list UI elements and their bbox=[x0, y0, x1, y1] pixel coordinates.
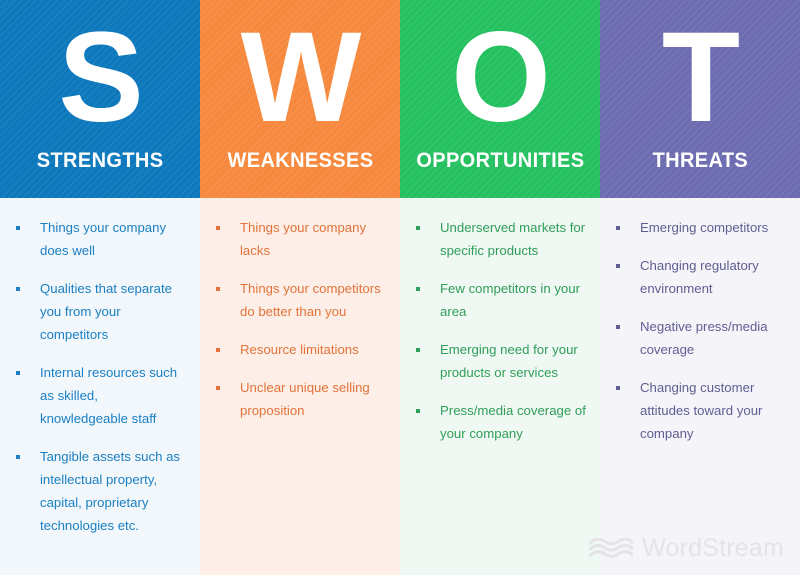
list-item-text: Negative press/media coverage bbox=[640, 315, 786, 361]
list-item-text: Internal resources such as skilled, know… bbox=[40, 361, 186, 430]
column-title-weaknesses: WEAKNESSES bbox=[227, 148, 373, 173]
list-item: Emerging competitors bbox=[610, 216, 786, 239]
list-item-text: Few competitors in your area bbox=[440, 277, 586, 323]
list-item: Negative press/media coverage bbox=[610, 315, 786, 361]
list-item: Resource limitations bbox=[210, 338, 386, 361]
list-item-text: Changing regulatory environment bbox=[640, 254, 786, 300]
list-item-text: Qualities that separate you from your co… bbox=[40, 277, 186, 346]
wave-icon bbox=[589, 538, 633, 560]
column-body-strengths: Things your company does well Qualities … bbox=[0, 198, 200, 575]
swot-matrix: S STRENGTHS Things your company does wel… bbox=[0, 0, 800, 575]
swot-column-weaknesses: W WEAKNESSES Things your company lacks T… bbox=[200, 0, 400, 575]
swot-column-strengths: S STRENGTHS Things your company does wel… bbox=[0, 0, 200, 575]
bullet-square-icon bbox=[216, 386, 220, 390]
list-item: Underserved markets for specific product… bbox=[410, 216, 586, 262]
list-item-text: Resource limitations bbox=[240, 338, 386, 361]
bullet-list-weaknesses: Things your company lacks Things your co… bbox=[210, 216, 386, 422]
list-item-text: Emerging competitors bbox=[640, 216, 786, 239]
list-item-text: Things your competitors do better than y… bbox=[240, 277, 386, 323]
column-body-weaknesses: Things your company lacks Things your co… bbox=[200, 198, 400, 575]
bullet-list-opportunities: Underserved markets for specific product… bbox=[410, 216, 586, 445]
column-header-threats: T THREATS bbox=[600, 0, 800, 198]
column-title-threats: THREATS bbox=[652, 148, 748, 173]
list-item: Press/media coverage of your company bbox=[410, 399, 586, 445]
list-item-text: Tangible assets such as intellectual pro… bbox=[40, 445, 186, 537]
bullet-square-icon bbox=[16, 287, 20, 291]
list-item: Changing regulatory environment bbox=[610, 254, 786, 300]
list-item: Internal resources such as skilled, know… bbox=[10, 361, 186, 430]
column-letter-weaknesses: W bbox=[241, 14, 360, 142]
column-header-weaknesses: W WEAKNESSES bbox=[200, 0, 400, 198]
list-item: Few competitors in your area bbox=[410, 277, 586, 323]
bullet-square-icon bbox=[616, 325, 620, 329]
column-letter-opportunities: O bbox=[451, 14, 549, 142]
column-letter-strengths: S bbox=[58, 14, 141, 142]
list-item: Things your company lacks bbox=[210, 216, 386, 262]
bullet-square-icon bbox=[616, 386, 620, 390]
bullet-square-icon bbox=[416, 348, 420, 352]
bullet-square-icon bbox=[216, 226, 220, 230]
bullet-list-threats: Emerging competitors Changing regulatory… bbox=[610, 216, 786, 445]
swot-column-opportunities: O OPPORTUNITIES Underserved markets for … bbox=[400, 0, 600, 575]
bullet-square-icon bbox=[16, 226, 20, 230]
bullet-square-icon bbox=[416, 226, 420, 230]
list-item: Things your company does well bbox=[10, 216, 186, 262]
list-item-text: Press/media coverage of your company bbox=[440, 399, 586, 445]
bullet-square-icon bbox=[216, 348, 220, 352]
column-title-strengths: STRENGTHS bbox=[37, 148, 164, 173]
list-item-text: Things your company lacks bbox=[240, 216, 386, 262]
column-body-opportunities: Underserved markets for specific product… bbox=[400, 198, 600, 575]
bullet-square-icon bbox=[616, 226, 620, 230]
swot-column-threats: T THREATS Emerging competitors Changing … bbox=[600, 0, 800, 575]
list-item: Tangible assets such as intellectual pro… bbox=[10, 445, 186, 537]
brand-name: WordStream bbox=[642, 536, 784, 561]
column-letter-threats: T bbox=[662, 14, 738, 142]
list-item-text: Unclear unique selling proposition bbox=[240, 376, 386, 422]
bullet-square-icon bbox=[16, 371, 20, 375]
list-item-text: Emerging need for your products or servi… bbox=[440, 338, 586, 384]
list-item-text: Things your company does well bbox=[40, 216, 186, 262]
list-item: Emerging need for your products or servi… bbox=[410, 338, 586, 384]
bullet-square-icon bbox=[216, 287, 220, 291]
bullet-square-icon bbox=[416, 409, 420, 413]
column-header-opportunities: O OPPORTUNITIES bbox=[400, 0, 600, 198]
list-item: Unclear unique selling proposition bbox=[210, 376, 386, 422]
bullet-list-strengths: Things your company does well Qualities … bbox=[10, 216, 186, 537]
brand-watermark: WordStream bbox=[589, 536, 784, 561]
bullet-square-icon bbox=[16, 455, 20, 459]
column-title-opportunities: OPPORTUNITIES bbox=[416, 148, 584, 173]
column-body-threats: Emerging competitors Changing regulatory… bbox=[600, 198, 800, 575]
list-item-text: Underserved markets for specific product… bbox=[440, 216, 586, 262]
bullet-square-icon bbox=[416, 287, 420, 291]
column-header-strengths: S STRENGTHS bbox=[0, 0, 200, 198]
list-item-text: Changing customer attitudes toward your … bbox=[640, 376, 786, 445]
list-item: Changing customer attitudes toward your … bbox=[610, 376, 786, 445]
list-item: Things your competitors do better than y… bbox=[210, 277, 386, 323]
list-item: Qualities that separate you from your co… bbox=[10, 277, 186, 346]
bullet-square-icon bbox=[616, 264, 620, 268]
